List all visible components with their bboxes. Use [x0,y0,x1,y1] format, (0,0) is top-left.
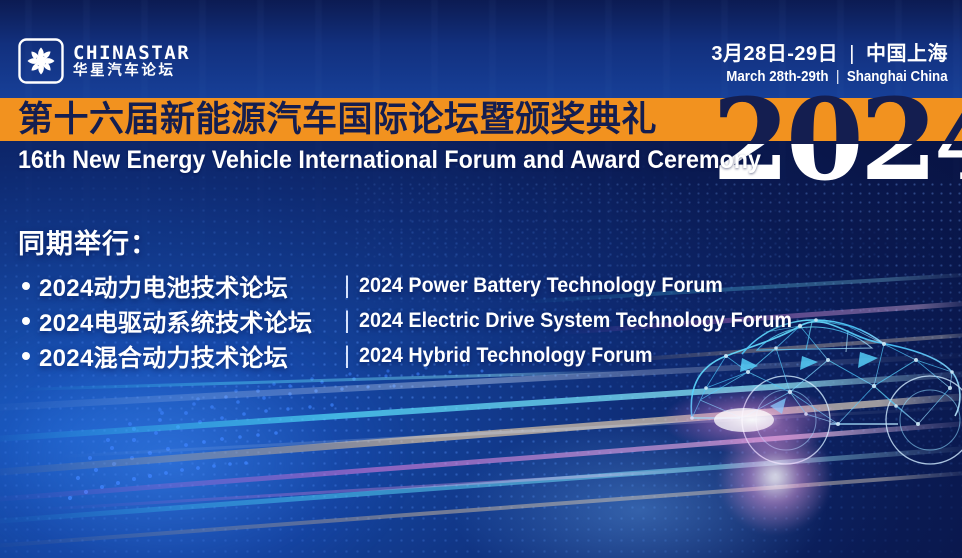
bullet-icon [22,317,30,325]
forum-name-cn: 2024电驱动系统技术论坛 [39,303,335,338]
forum-name-en: 2024 Power Battery Technology Forum [359,274,723,298]
forum-separator: | [335,342,359,370]
concurrent-forums: 同期举行： 2024动力电池技术论坛 | 2024 Power Battery … [18,222,820,375]
list-item: 2024动力电池技术论坛 | 2024 Power Battery Techno… [18,270,820,301]
forum-name-cn: 2024动力电池技术论坛 [39,268,335,303]
flare-glow [690,392,860,558]
forum-separator: | [335,272,359,300]
list-item: 2024混合动力技术论坛 | 2024 Hybrid Technology Fo… [18,340,820,371]
forum-name-en: 2024 Hybrid Technology Forum [359,344,653,368]
location-en: Shanghai China [847,69,948,85]
main-title-en: 16th New Energy Vehicle International Fo… [18,145,761,175]
main-title-cn: 第十六届新能源汽车国际论坛暨颁奖典礼 [18,99,657,140]
date-location-en: March 28th-29th | Shanghai China [727,68,948,87]
forum-separator: | [335,307,359,335]
brand-logo-text: CHINASTAR 华星汽车论坛 [73,44,190,79]
date-separator-en: | [833,69,844,85]
date-location-cn: 3月28日-29日 | 中国上海 [707,42,948,68]
event-poster: CHINASTAR 华星汽车论坛 3月28日-29日 | 中国上海 March … [0,0,962,558]
concurrent-heading: 同期举行： [18,222,820,261]
bullet-icon [22,282,30,290]
brand-logo[interactable]: CHINASTAR 华星汽车论坛 [18,38,190,84]
brand-name-en: CHINASTAR [73,44,190,63]
location-cn: 中国上海 [866,43,948,65]
brand-name-cn: 华星汽车论坛 [73,64,190,79]
bullet-icon [22,352,30,360]
date-separator-cn: | [844,43,860,65]
star-emblem-icon [18,38,64,84]
list-item: 2024电驱动系统技术论坛 | 2024 Electric Drive Syst… [18,305,820,336]
year-display: 2024 2024 [712,86,962,196]
date-cn: 3月28日-29日 [711,43,838,65]
forum-name-cn: 2024混合动力技术论坛 [39,338,335,373]
date-en: March 28th-29th [727,69,829,85]
forum-name-en: 2024 Electric Drive System Technology Fo… [359,309,792,333]
event-date-location: 3月28日-29日 | 中国上海 March 28th-29th | Shang… [707,42,948,86]
